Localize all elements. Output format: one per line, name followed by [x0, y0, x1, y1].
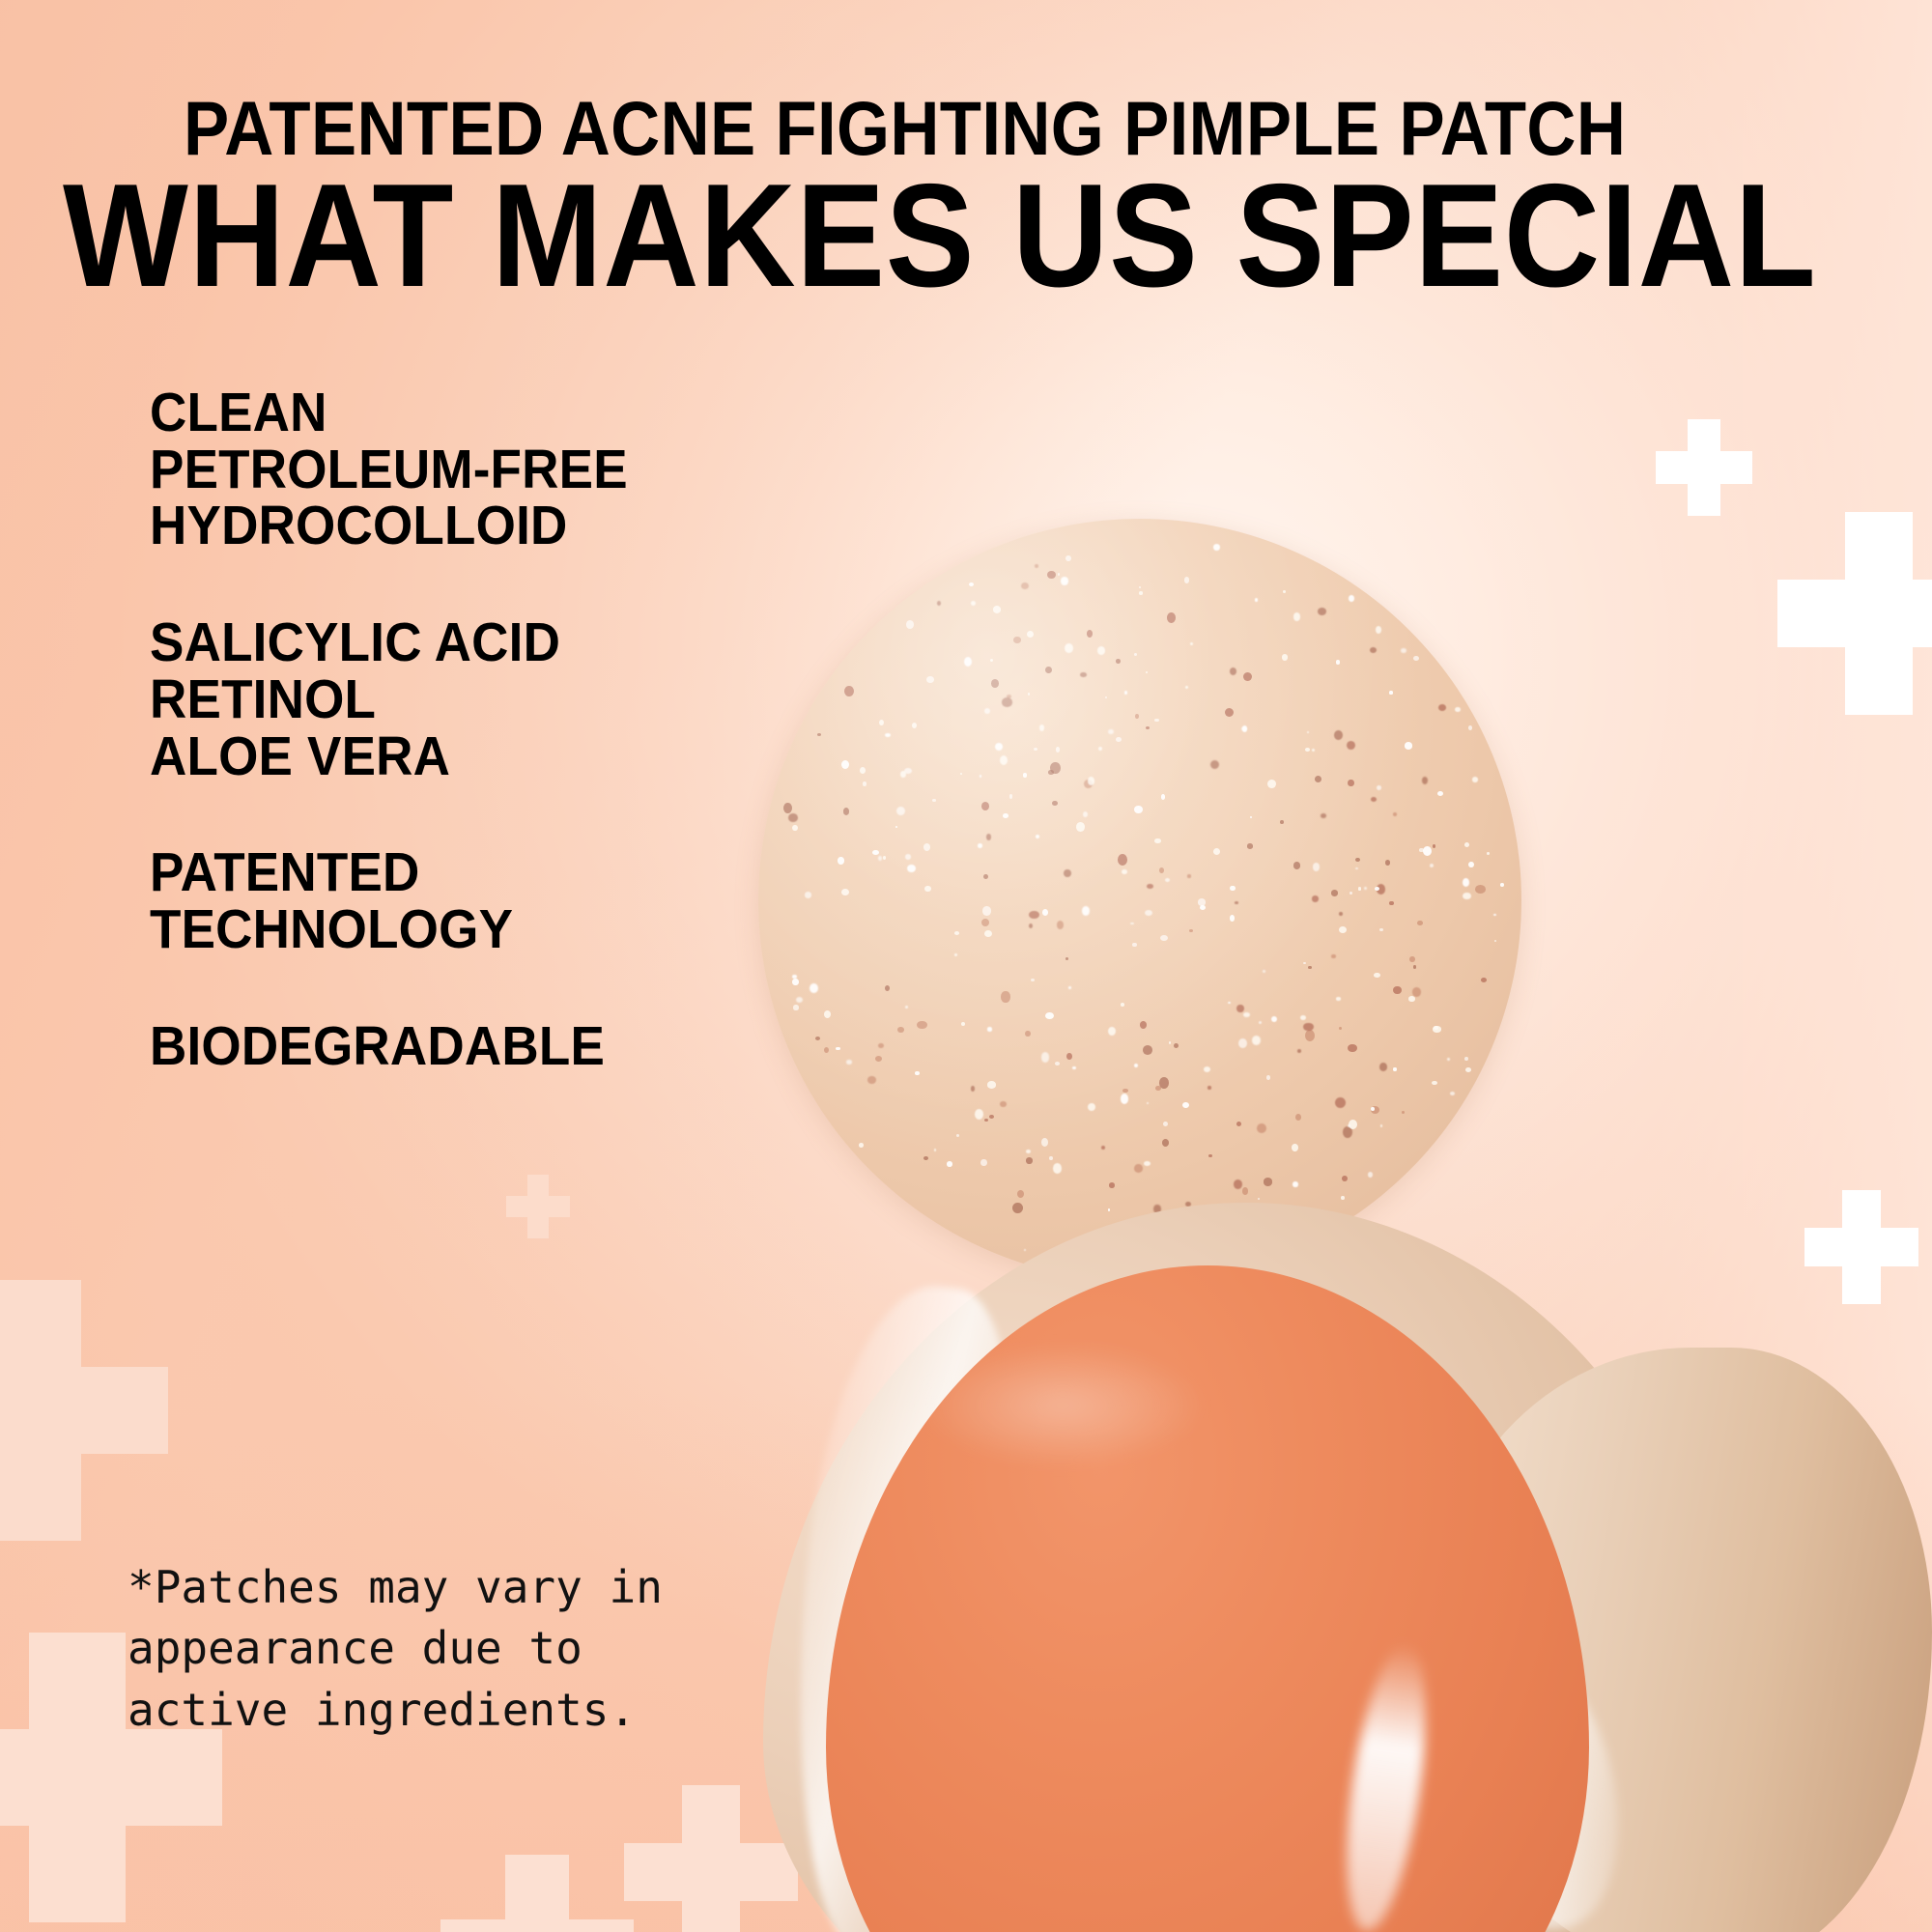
feature-group: BIODEGRADABLE — [150, 1018, 768, 1075]
page-title: WHAT MAKES US SPECIAL — [63, 162, 1816, 309]
feature-list: CLEANPETROLEUM-FREEHYDROCOLLOIDSALICYLIC… — [150, 384, 768, 1134]
feature-line: PETROLEUM-FREE — [150, 441, 724, 498]
feature-line: ALOE VERA — [150, 728, 724, 785]
footnote-disclaimer: *Patches may vary in appearance due to a… — [128, 1557, 668, 1741]
patch-sheen-highlight — [758, 519, 1521, 1282]
feature-line: RETINOL — [150, 671, 724, 728]
feature-line: HYDROCOLLOID — [150, 497, 724, 554]
feature-group: SALICYLIC ACIDRETINOLALOE VERA — [150, 614, 768, 784]
feature-line: PATENTED — [150, 844, 724, 901]
nail-soft-highlight — [918, 1343, 1207, 1468]
feature-group: CLEANPETROLEUM-FREEHYDROCOLLOID — [150, 384, 768, 554]
footnote-text: Patches may vary in appearance due to ac… — [128, 1561, 663, 1736]
hydrocolloid-patch-disc — [758, 519, 1521, 1282]
feature-line: SALICYLIC ACID — [150, 614, 724, 671]
product-marketing-graphic: PATENTED ACNE FIGHTING PIMPLE PATCH WHAT… — [0, 0, 1932, 1932]
feature-line: BIODEGRADABLE — [150, 1018, 724, 1075]
feature-group: PATENTEDTECHNOLOGY — [150, 844, 768, 957]
footnote-asterisk: * — [128, 1561, 155, 1613]
feature-line: CLEAN — [150, 384, 724, 441]
feature-line: TECHNOLOGY — [150, 901, 724, 958]
